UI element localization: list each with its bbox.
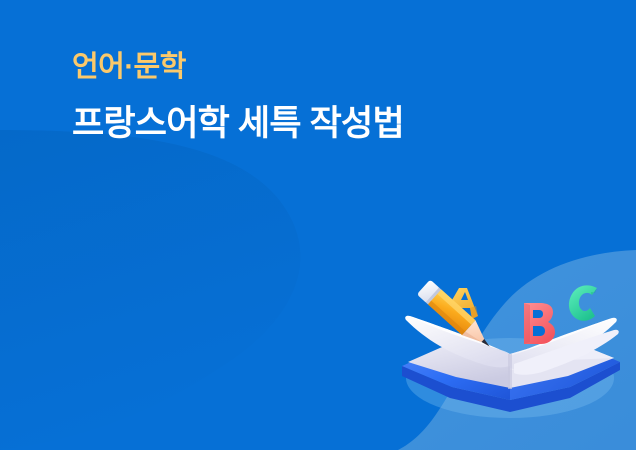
- book-spine: [508, 354, 512, 389]
- letter-c-icon: [569, 285, 597, 320]
- open-book-illustration: [392, 258, 628, 426]
- illustration-svg: [392, 258, 628, 426]
- letter-b-icon: [524, 303, 555, 344]
- banner-text-block: 언어·문학 프랑스어학 세특 작성법: [72, 50, 404, 145]
- banner-title: 프랑스어학 세특 작성법: [72, 103, 404, 145]
- banner-category-label: 언어·문학: [72, 50, 404, 85]
- course-banner: 언어·문학 프랑스어학 세특 작성법: [0, 0, 636, 450]
